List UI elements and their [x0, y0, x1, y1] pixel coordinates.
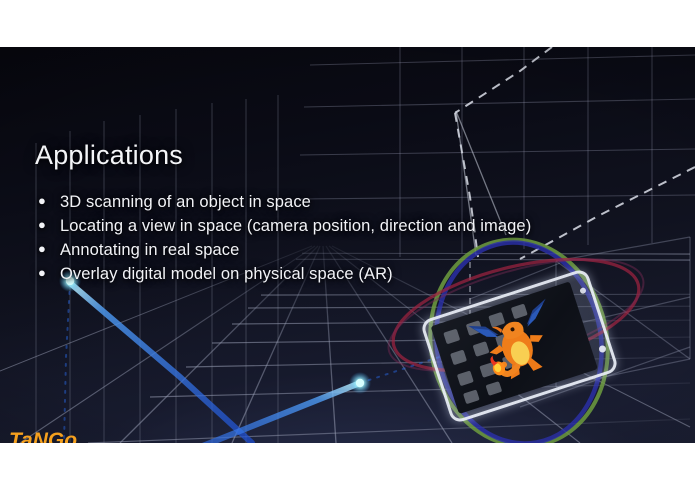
letterbox-bottom: [0, 443, 695, 494]
list-item-label: Annotating in real space: [60, 241, 239, 260]
tango-go-logo: TaNGo G: [7, 422, 81, 443]
list-item: ● Overlay digital model on physical spac…: [38, 265, 531, 284]
list-item: ● Annotating in real space: [38, 241, 531, 260]
presentation-slide: Applications ● 3D scanning of an object …: [0, 47, 695, 443]
list-item-label: Locating a view in space (camera positio…: [60, 217, 531, 236]
screenshot-root: Applications ● 3D scanning of an object …: [0, 0, 695, 494]
bullet-dot-icon: ●: [38, 218, 60, 231]
list-item-label: Overlay digital model on physical space …: [60, 265, 393, 284]
logo-wordmark-text: TaNGo: [9, 429, 77, 443]
bullet-dot-icon: ●: [38, 194, 60, 207]
bullet-dot-icon: ●: [38, 242, 60, 255]
page-title: Applications: [35, 140, 183, 171]
bullet-dot-icon: ●: [38, 266, 60, 279]
letterbox-top: [0, 0, 695, 47]
list-item: ● 3D scanning of an object in space: [38, 193, 531, 212]
bullet-list: ● 3D scanning of an object in space ● Lo…: [38, 193, 531, 289]
list-item-label: 3D scanning of an object in space: [60, 193, 311, 212]
list-item: ● Locating a view in space (camera posit…: [38, 217, 531, 236]
tango-wordmark: TaNGo: [9, 429, 77, 443]
